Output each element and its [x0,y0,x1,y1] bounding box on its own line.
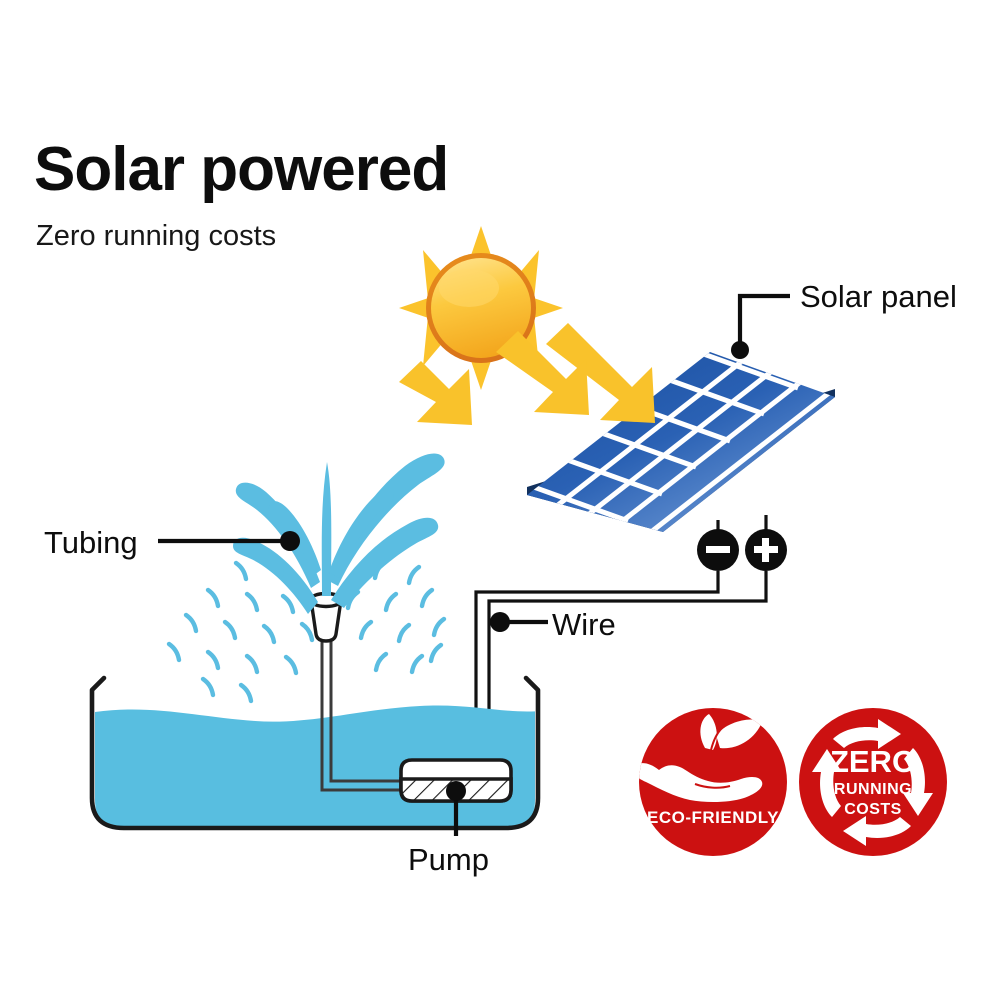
label-pump: Pump [408,842,489,877]
zero-badge-line3: COSTS [844,801,902,818]
solar-panel-callout-dot [731,341,749,359]
label-tubing: Tubing [44,525,138,560]
plus-icon-v [762,538,769,562]
eco-badge-label: ECO-FRIENDLY [647,808,779,827]
pump-callout-dot [446,781,466,801]
label-wire: Wire [552,607,616,642]
label-solar-panel: Solar panel [800,279,957,314]
sun-highlight [439,269,499,307]
zero-badge-line1: ZERO [830,744,916,779]
page-title: Solar powered [34,135,448,204]
infographic-canvas: Solar powered Zero running costs [0,0,1000,1000]
spray-droplets [169,558,444,701]
callout-wire: Wire [490,607,616,642]
page-subtitle: Zero running costs [36,220,276,252]
panel-terminals [697,515,787,571]
tubing-callout-dot [280,531,300,551]
callout-solar-panel: Solar panel [731,279,957,359]
badge-eco-friendly[interactable]: ECO-FRIENDLY [634,708,787,856]
wire-callout-dot [490,612,510,632]
badge-zero-running-costs[interactable]: ZERO RUNNING COSTS [799,708,947,856]
solar-fountain-diagram: Solar powered Zero running costs [0,0,1000,1000]
zero-badge-line2: RUNNING [834,781,912,798]
minus-icon [706,546,730,553]
fountain-spray [169,454,445,701]
